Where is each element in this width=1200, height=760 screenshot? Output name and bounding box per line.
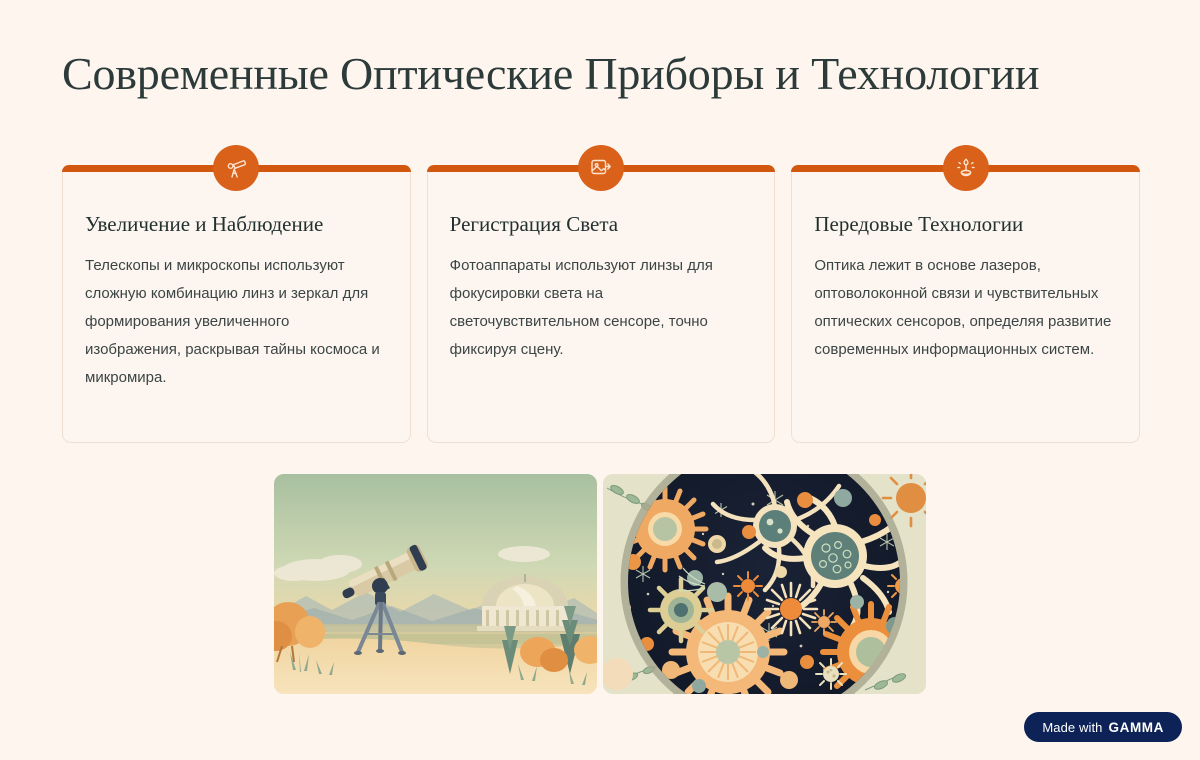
- slide-root: Современные Оптические Приборы и Техноло…: [0, 0, 1200, 760]
- illustration-row: [274, 474, 926, 694]
- card-body-text: Фотоаппараты используют линзы для фокуси…: [450, 252, 753, 364]
- gamma-brand-label: GAMMA: [1109, 720, 1165, 735]
- badge-prefix-label: Made with: [1042, 720, 1102, 735]
- card-body-text: Оптика лежит в основе лазеров, оптоволок…: [814, 252, 1117, 364]
- feature-card-advanced-tech[interactable]: Передовые Технологии Оптика лежит в осно…: [791, 165, 1140, 443]
- made-with-gamma-badge[interactable]: Made with GAMMA: [1024, 712, 1182, 742]
- telescope-icon: [213, 145, 259, 191]
- page-title: Современные Оптические Приборы и Техноло…: [62, 46, 1142, 102]
- feature-card-light-capture[interactable]: Регистрация Света Фотоаппараты использую…: [427, 165, 776, 443]
- candle-lamp-icon: [943, 145, 989, 191]
- card-title: Увеличение и Наблюдение: [85, 210, 388, 238]
- card-title: Регистрация Света: [450, 210, 753, 238]
- telescope-observatory-illustration: [274, 474, 597, 694]
- photo-image-icon: [578, 145, 624, 191]
- feature-cards-row: Увеличение и Наблюдение Телескопы и микр…: [62, 165, 1140, 443]
- microscope-microorganisms-illustration: [603, 474, 926, 694]
- feature-card-magnification[interactable]: Увеличение и Наблюдение Телескопы и микр…: [62, 165, 411, 443]
- card-title: Передовые Технологии: [814, 210, 1117, 238]
- card-body-text: Телескопы и микроскопы используют сложну…: [85, 252, 388, 392]
